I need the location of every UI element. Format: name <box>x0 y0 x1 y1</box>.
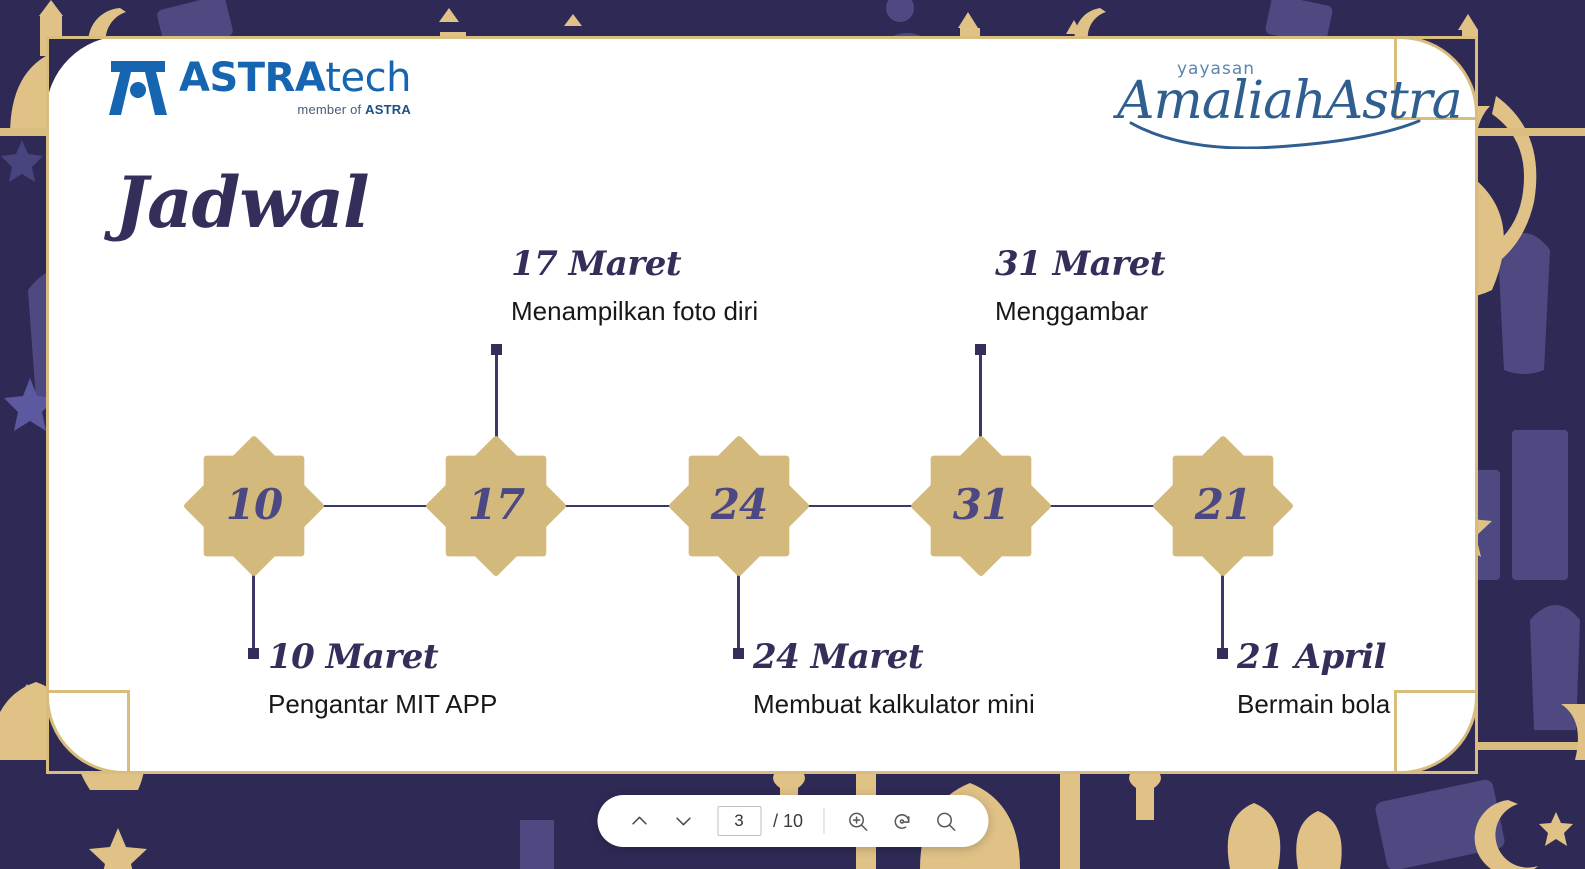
stem-cap-icon <box>248 648 259 659</box>
slide-canvas: ASTRAtech member of ASTRA yayasan Amalia… <box>46 36 1478 774</box>
timeline-label-description: Membuat kalkulator mini <box>753 689 1035 720</box>
timeline-label-24: 24 Maret Membuat kalkulator mini <box>753 637 1035 720</box>
timeline-label-description: Bermain bola <box>1237 689 1390 720</box>
timeline-label-10: 10 Maret Pengantar MIT APP <box>268 637 497 720</box>
rotate-icon <box>891 810 914 833</box>
chevron-up-icon <box>628 810 650 832</box>
pdf-viewer: ASTRAtech member of ASTRA yayasan Amalia… <box>0 0 1585 869</box>
timeline-label-date: 24 Maret <box>753 637 1035 677</box>
page-number-input[interactable] <box>717 806 761 836</box>
timeline-node-day: 17 <box>422 432 570 580</box>
stem-cap-icon <box>491 344 502 355</box>
timeline-label-date: 10 Maret <box>268 637 497 677</box>
timeline-stem-21 <box>1221 569 1224 659</box>
rotate-button[interactable] <box>882 801 922 841</box>
next-page-button[interactable] <box>663 801 703 841</box>
timeline-label-31: 31 Maret Menggambar <box>995 244 1165 327</box>
pdf-toolbar: / 10 <box>597 795 988 847</box>
timeline-node-24[interactable]: 24 <box>665 432 813 580</box>
chevron-down-icon <box>672 810 694 832</box>
timeline-stem-24 <box>737 569 740 659</box>
search-icon <box>935 810 958 833</box>
timeline-label-21: 21 April Bermain bola <box>1237 637 1390 720</box>
timeline-node-day: 21 <box>1149 432 1297 580</box>
timeline-node-10[interactable]: 10 <box>180 432 328 580</box>
stem-cap-icon <box>733 648 744 659</box>
page-total-label: / 10 <box>773 811 803 832</box>
timeline-node-31[interactable]: 31 <box>907 432 1055 580</box>
stem-cap-icon <box>975 344 986 355</box>
zoom-in-button[interactable] <box>838 801 878 841</box>
previous-page-button[interactable] <box>619 801 659 841</box>
timeline-node-day: 10 <box>180 432 328 580</box>
timeline-node-day: 31 <box>907 432 1055 580</box>
timeline-label-description: Menampilkan foto diri <box>511 296 758 327</box>
timeline: 10 17 24 <box>49 39 1478 774</box>
toolbar-divider <box>823 808 824 834</box>
timeline-label-date: 17 Maret <box>511 244 758 284</box>
timeline-label-description: Pengantar MIT APP <box>268 689 497 720</box>
timeline-label-17: 17 Maret Menampilkan foto diri <box>511 244 758 327</box>
timeline-label-date: 31 Maret <box>995 244 1165 284</box>
timeline-node-21[interactable]: 21 <box>1149 432 1297 580</box>
zoom-in-icon <box>847 810 870 833</box>
timeline-node-17[interactable]: 17 <box>422 432 570 580</box>
timeline-label-description: Menggambar <box>995 296 1165 327</box>
stem-cap-icon <box>1217 648 1228 659</box>
timeline-label-date: 21 April <box>1237 637 1390 677</box>
timeline-node-day: 24 <box>665 432 813 580</box>
search-button[interactable] <box>926 801 966 841</box>
timeline-stem-10 <box>252 569 255 659</box>
